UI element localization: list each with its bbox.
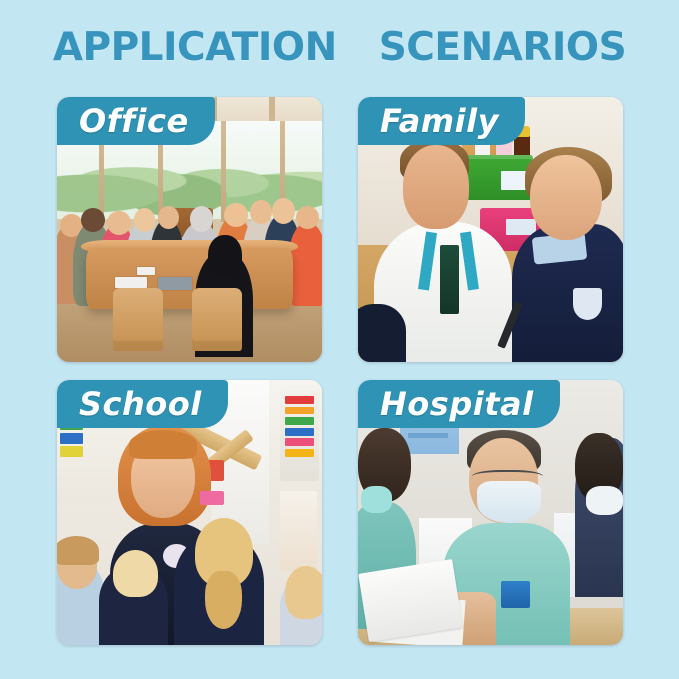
card-badge-label-family: Family: [380, 105, 499, 137]
scenario-card-school[interactable]: School: [57, 380, 322, 645]
scenario-card-family[interactable]: Family: [358, 97, 623, 362]
page-title: APPLICATION SCENARIOS: [0, 28, 679, 67]
scenario-grid: Office: [57, 97, 623, 645]
scenario-card-office[interactable]: Office: [57, 97, 322, 362]
card-badge-school: School: [57, 380, 228, 428]
card-badge-office: Office: [57, 97, 215, 145]
page-title-word-scenarios: SCENARIOS: [379, 28, 626, 67]
page-title-word-application: APPLICATION: [53, 28, 337, 67]
card-badge-label-school: School: [79, 388, 202, 420]
card-badge-label-office: Office: [79, 105, 189, 137]
card-badge-hospital: Hospital: [358, 380, 560, 428]
card-badge-label-hospital: Hospital: [380, 388, 534, 420]
card-badge-family: Family: [358, 97, 525, 145]
scenario-card-hospital[interactable]: Hospital: [358, 380, 623, 645]
